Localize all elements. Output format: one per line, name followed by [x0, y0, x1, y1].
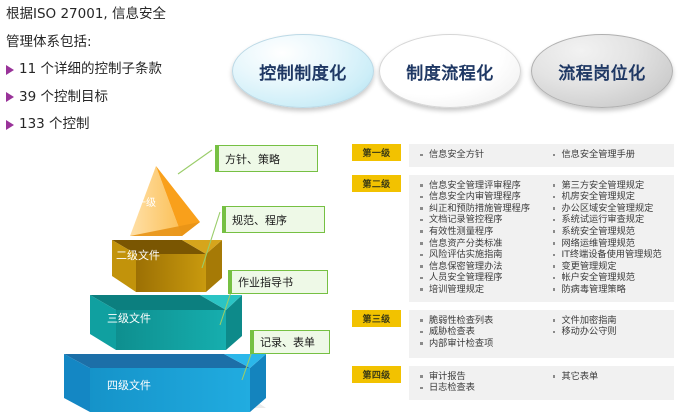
triangle-bullet-icon	[6, 65, 14, 75]
triangle-bullet-icon	[6, 92, 14, 102]
list-item: 移动办公守则	[552, 326, 675, 338]
intro-line-1: 根据ISO 27001, 信息安全	[6, 8, 228, 22]
pyramid-level-3-front	[116, 310, 226, 350]
callout-label: 作业指导书	[238, 274, 293, 290]
list-item: 机房安全管理规定	[552, 191, 675, 203]
list: 信息安全管理手册	[552, 149, 675, 161]
list-item: 纠正和预防措施管理程序	[419, 203, 542, 215]
badge-level-4: 第四级	[352, 366, 401, 383]
intro-bullet-2: 39 个控制目标	[6, 91, 228, 105]
list: 其它表单	[552, 371, 675, 383]
callout-accent-bar	[251, 331, 254, 353]
panel-level-2: 第二级 信息安全管理评审程序 信息安全内审管理程序 纠正和预防措施管理程序 文档…	[352, 175, 674, 302]
panel-level-2-right-column: 第三方安全管理规定 机房安全管理规定 办公区域安全管理规定 系统试运行审查规定 …	[542, 180, 675, 296]
panel-level-3: 第三级 脆弱性检查列表 威胁检查表 内部审计检查项 文件加密指南 移动办公守则	[352, 310, 674, 358]
list-item: 系统安全管理规范	[552, 226, 675, 238]
panel-level-3-body: 脆弱性检查列表 威胁检查表 内部审计检查项 文件加密指南 移动办公守则	[409, 310, 674, 358]
list-item: 风险评估实施指南	[419, 249, 542, 261]
list-item: 系统试运行审查规定	[552, 214, 675, 226]
list-item: 信息安全内审管理程序	[419, 191, 542, 203]
oval-shape-process-positionization: 流程岗位化	[531, 34, 673, 108]
intro-bullet-2-label: 39 个控制目标	[19, 91, 108, 105]
badge-level-1: 第一级	[352, 144, 401, 161]
pyramid-level-4-front	[90, 368, 250, 412]
list-item: 审计报告	[419, 371, 542, 383]
badge-level-2: 第二级	[352, 175, 401, 192]
panel-level-4-left-column: 审计报告 日志检查表	[409, 371, 542, 394]
intro-line-2: 管理体系包括:	[6, 36, 228, 50]
list-item: 信息保密管理办法	[419, 261, 542, 273]
list: 信息安全管理评审程序 信息安全内审管理程序 纠正和预防措施管理程序 文档记录管控…	[419, 180, 542, 296]
panel-level-1-left-column: 信息安全方针	[409, 149, 542, 161]
intro-bullet-1-label: 11 个详细的控制子条款	[19, 63, 162, 77]
callout-accent-bar	[216, 146, 219, 171]
list-item: 有效性测量程序	[419, 226, 542, 238]
list-item: 变更管理规定	[552, 261, 675, 273]
list-item: 培训管理规定	[419, 284, 542, 296]
callout-label: 方针、策略	[225, 151, 280, 167]
callout-box-standard-procedure: 规范、程序	[222, 206, 325, 233]
list-item: 防病毒管理策略	[552, 284, 675, 296]
callout-label: 规范、程序	[232, 212, 287, 228]
list-item: 帐户安全管理规范	[552, 272, 675, 284]
list: 信息安全方针	[419, 149, 542, 161]
list-item: 文档记录管控程序	[419, 214, 542, 226]
pyramid-level-4-top	[64, 354, 250, 368]
panel-level-3-right-column: 文件加密指南 移动办公守则	[542, 315, 675, 352]
list-item: 文件加密指南	[552, 315, 675, 327]
list-item: 信息安全管理手册	[552, 149, 675, 161]
panel-level-1: 第一级 信息安全方针 信息安全管理手册	[352, 144, 674, 167]
list: 第三方安全管理规定 机房安全管理规定 办公区域安全管理规定 系统试运行审查规定 …	[552, 180, 675, 296]
triangle-bullet-icon	[6, 120, 14, 130]
oval-shape-control-systemization: 控制制度化	[232, 34, 374, 108]
intro-bullet-3: 133 个控制	[6, 118, 228, 132]
panel-level-4-body: 审计报告 日志检查表 其它表单	[409, 366, 674, 400]
list: 脆弱性检查列表 威胁检查表 内部审计检查项	[419, 315, 542, 350]
intro-bullet-3-label: 133 个控制	[19, 118, 90, 132]
list-item: 内部审计检查项	[419, 338, 542, 350]
callout-box-record-form: 记录、表单	[250, 330, 330, 354]
callout-accent-bar	[223, 207, 226, 232]
callout-accent-bar	[229, 271, 232, 293]
panel-level-1-right-column: 信息安全管理手册	[542, 149, 675, 161]
list-item: 网络运维管理规范	[552, 238, 675, 250]
list-item: 日志检查表	[419, 382, 542, 394]
panel-level-2-body: 信息安全管理评审程序 信息安全内审管理程序 纠正和预防措施管理程序 文档记录管控…	[409, 175, 674, 302]
callout-box-policy-strategy: 方针、策略	[215, 145, 318, 172]
panel-level-3-left-column: 脆弱性检查列表 威胁检查表 内部审计检查项	[409, 315, 542, 352]
intro-text-block: 根据ISO 27001, 信息安全 管理体系包括: 11 个详细的控制子条款 3…	[6, 8, 228, 146]
panel-level-4: 第四级 审计报告 日志检查表 其它表单	[352, 366, 674, 400]
badge-level-3: 第三级	[352, 310, 401, 327]
panel-level-2-left-column: 信息安全管理评审程序 信息安全内审管理程序 纠正和预防措施管理程序 文档记录管控…	[409, 180, 542, 296]
list: 审计报告 日志检查表	[419, 371, 542, 394]
list-item: 脆弱性检查列表	[419, 315, 542, 327]
list-item: 其它表单	[552, 371, 675, 383]
list: 文件加密指南 移动办公守则	[552, 315, 675, 338]
slide-canvas: 根据ISO 27001, 信息安全 管理体系包括: 11 个详细的控制子条款 3…	[0, 0, 678, 414]
list-item: IT终端设备使用管理规范	[552, 249, 675, 261]
list-item: 信息安全管理评审程序	[419, 180, 542, 192]
pyramid-level-2-front	[136, 254, 206, 292]
document-list-panels: 第一级 信息安全方针 信息安全管理手册 第二级 信息	[352, 144, 674, 408]
list-item: 信息资产分类标准	[419, 238, 542, 250]
list-item: 信息安全方针	[419, 149, 542, 161]
list-item: 人员安全管理程序	[419, 272, 542, 284]
panel-level-4-right-column: 其它表单	[542, 371, 675, 394]
list-item: 第三方安全管理规定	[552, 180, 675, 192]
callout-box-work-instruction: 作业指导书	[228, 270, 328, 294]
list-item: 威胁检查表	[419, 326, 542, 338]
intro-bullet-1: 11 个详细的控制子条款	[6, 63, 228, 77]
panel-level-1-body: 信息安全方针 信息安全管理手册	[409, 144, 674, 167]
callout-label: 记录、表单	[260, 334, 315, 350]
leader-line-1	[178, 150, 212, 174]
oval-shape-system-processization: 制度流程化	[379, 34, 521, 108]
list-item: 办公区域安全管理规定	[552, 203, 675, 215]
